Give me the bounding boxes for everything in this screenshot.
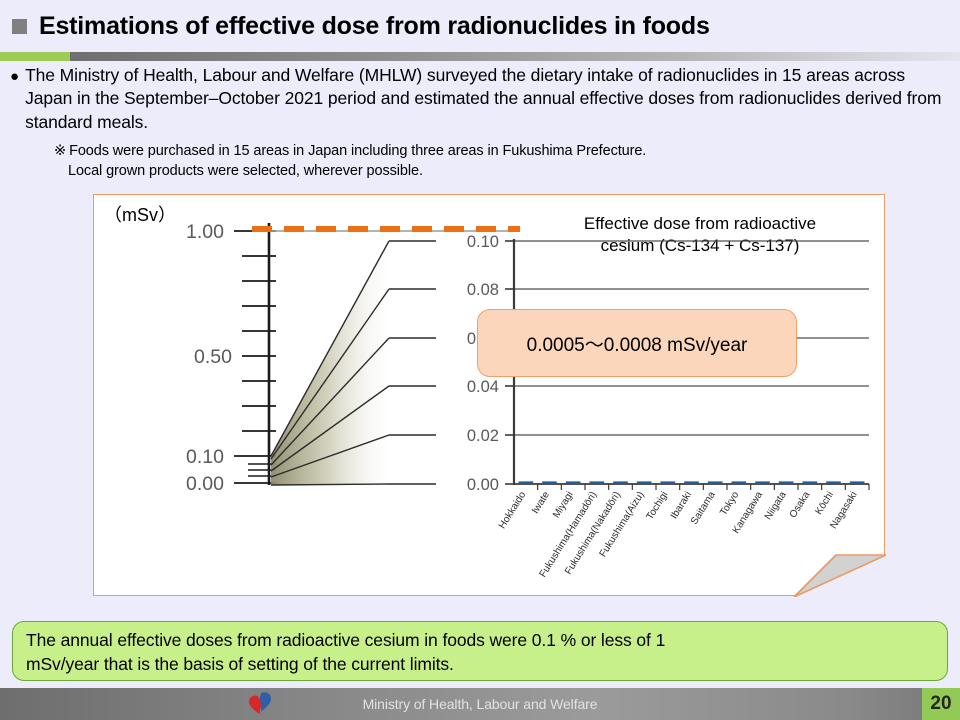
note-mark-icon: ※ — [54, 143, 66, 159]
header-divider — [0, 52, 960, 61]
category-label-Saitama: Saitama — [689, 489, 718, 526]
inset-category-labels: HokkaidoIwateMiyagiFukushima(Hamadōri)Fu… — [497, 489, 860, 579]
bar-Niigata — [779, 481, 794, 484]
category-label-Tokyo: Tokyo — [718, 489, 741, 517]
slide-header: Estimations of effective dose from radio… — [0, 0, 960, 52]
slide: Estimations of effective dose from radio… — [0, 0, 960, 720]
inset-tick-0-02: 0.02 — [467, 427, 499, 445]
value-range-callout: 0.0005～0.0008 mSv/year — [477, 309, 797, 377]
bar-Nagasaki — [850, 481, 865, 484]
bar-Saitama — [708, 481, 723, 484]
inset-tick-0-04: 0.04 — [467, 378, 499, 396]
page-title: Estimations of effective dose from radio… — [39, 12, 710, 41]
category-label-Tochigi: Tochigi — [645, 490, 671, 522]
footnote-text-2: Local grown products were selected, wher… — [68, 161, 956, 181]
bar-Kanagawa — [755, 481, 770, 484]
slide-footer: Ministry of Health, Labour and Welfare 2… — [0, 688, 960, 720]
page-number-badge: 20 — [922, 688, 960, 720]
category-label-Osaka: Osaka — [788, 489, 813, 520]
bar-Osaka — [803, 481, 818, 484]
bar-Tokyo — [732, 481, 747, 484]
main-paragraph-row: ● The Ministry of Health, Labour and Wel… — [10, 64, 956, 134]
category-label-Ibaraki: Ibaraki — [669, 490, 694, 521]
summary-line-1: The annual effective doses from radioact… — [26, 629, 934, 653]
chart-graphic: 1.00 0.50 0.10 0.00 — [124, 219, 884, 591]
inset-bar-series — [519, 481, 865, 484]
category-label-Fukushima(Aizu): Fukushima(Aizu) — [598, 490, 647, 559]
main-paragraph: The Ministry of Health, Labour and Welfa… — [25, 64, 956, 134]
inset-tick-0-10: 0.10 — [467, 233, 499, 251]
bar-Kōchi — [826, 481, 841, 484]
category-label-Niigata: Niigata — [763, 489, 789, 522]
main-axis-tick-0-00: 0.00 — [186, 473, 224, 495]
divider-grey-gradient — [70, 52, 960, 61]
footer-ministry-text: Ministry of Health, Labour and Welfare — [0, 688, 960, 720]
category-label-Kōchi: Kōchi — [813, 490, 836, 517]
bar-Miyagi — [566, 481, 581, 484]
category-label-Hokkaido: Hokkaido — [497, 489, 529, 531]
bar-Tochigi — [661, 481, 676, 484]
main-axis-tick-1-00: 1.00 — [186, 221, 224, 243]
bar-Fukushima(Nakadōri) — [613, 481, 628, 484]
bar-Fukushima(Hamadōri) — [590, 481, 605, 484]
category-label-Iwate: Iwate — [530, 489, 552, 515]
category-label-Miyagi: Miyagi — [551, 490, 576, 520]
summary-line-2: mSv/year that is the basis of setting of… — [26, 653, 934, 677]
bar-Iwate — [542, 481, 557, 484]
bar-Fukushima(Aizu) — [637, 481, 652, 484]
magnifier-fan — [271, 241, 389, 485]
chart-panel: （mSv） Effective dose from radioactive ce… — [93, 194, 885, 596]
summary-callout-box: The annual effective doses from radioact… — [12, 621, 948, 681]
main-axis-tick-0-10: 0.10 — [186, 446, 224, 468]
footnote-text-1: Foods were purchased in 15 areas in Japa… — [69, 143, 646, 159]
inset-tick-0-08: 0.08 — [467, 281, 499, 299]
bar-Ibaraki — [684, 481, 699, 484]
inset-tick-0-00: 0.00 — [467, 476, 499, 494]
main-axis-tick-0-50: 0.50 — [194, 346, 232, 368]
footnote-block: ※Foods were purchased in 15 areas in Jap… — [54, 141, 956, 181]
body-text-block: ● The Ministry of Health, Labour and Wel… — [10, 64, 956, 181]
square-bullet-icon — [12, 19, 27, 34]
round-bullet-icon: ● — [10, 69, 19, 84]
footnote-line-1: ※Foods were purchased in 15 areas in Jap… — [54, 141, 956, 161]
divider-green-segment — [0, 52, 70, 61]
bar-Hokkaido — [519, 481, 534, 484]
